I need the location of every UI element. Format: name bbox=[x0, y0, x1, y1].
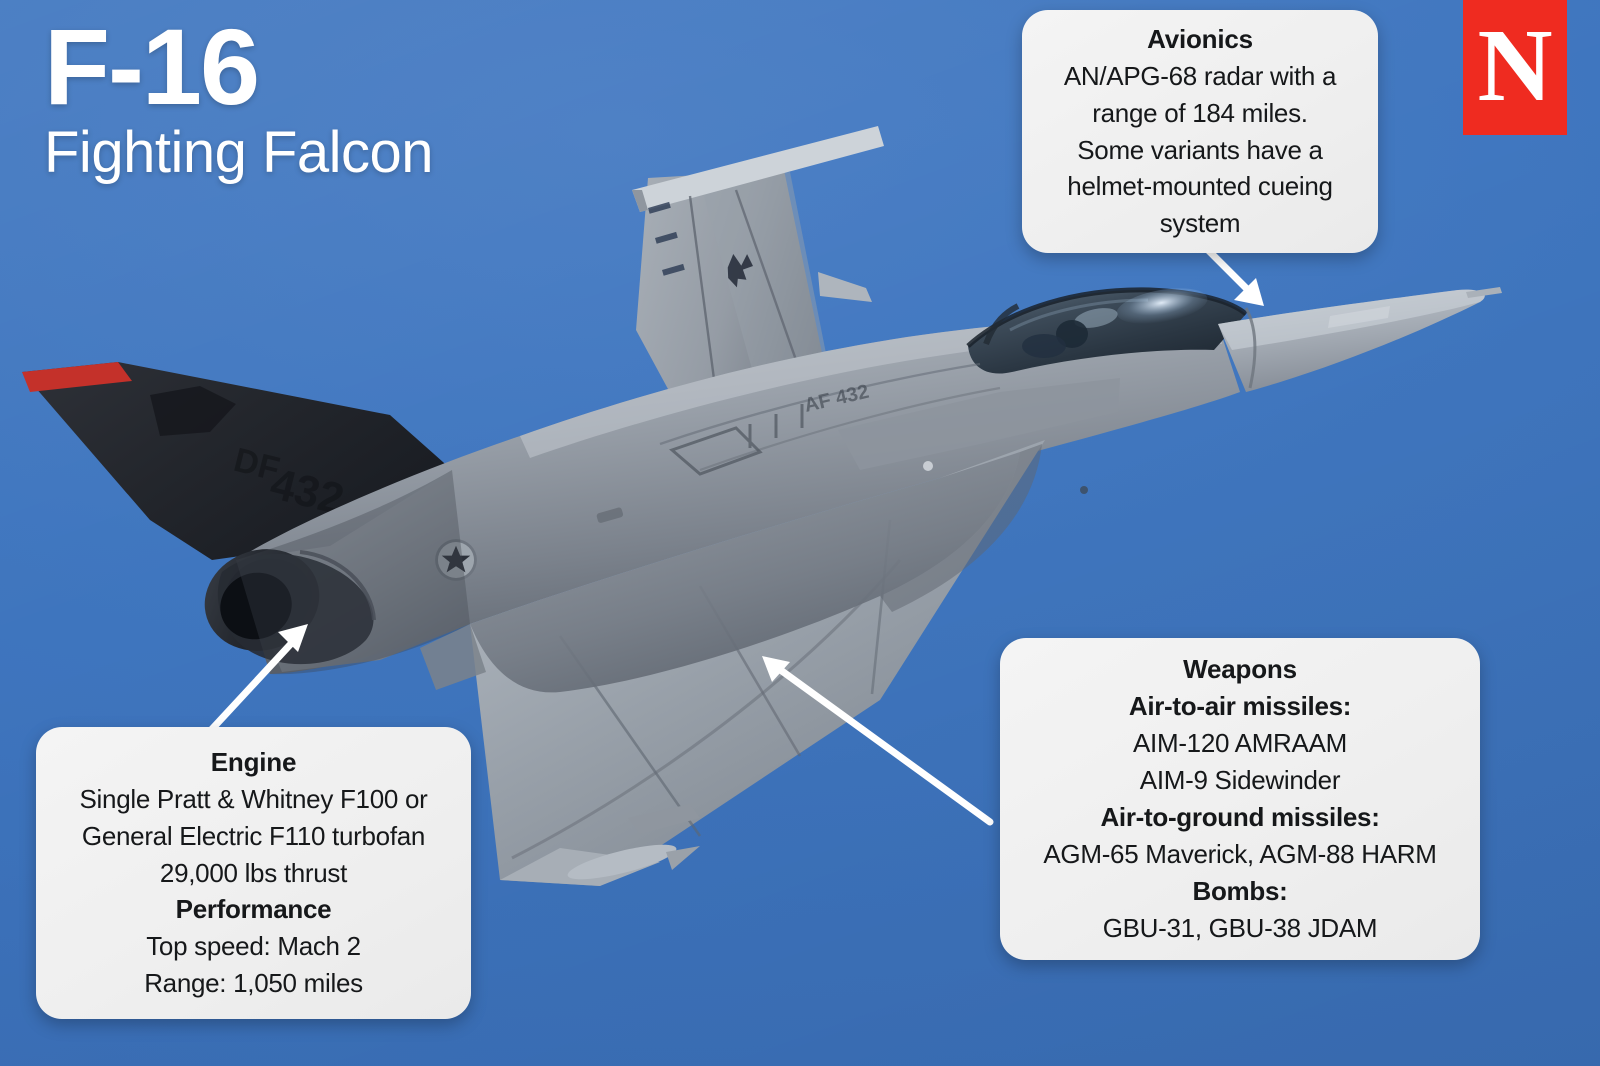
engine-line-6: Range: 1,050 miles bbox=[52, 965, 455, 1002]
callout-engine[interactable]: Engine Single Pratt & Whitney F100 or Ge… bbox=[36, 727, 471, 1019]
weapons-line-4: Air-to-ground missiles: bbox=[1016, 799, 1464, 836]
weapons-line-6: Bombs: bbox=[1016, 873, 1464, 910]
avionics-line-5: system bbox=[1038, 205, 1362, 242]
engine-line-3: 29,000 lbs thrust bbox=[52, 855, 455, 892]
engine-line-1: Single Pratt & Whitney F100 or bbox=[52, 781, 455, 818]
infographic-canvas: DF 432 bbox=[0, 0, 1600, 1066]
engine-line-2: General Electric F110 turbofan bbox=[52, 818, 455, 855]
callout-avionics[interactable]: Avionics AN/APG-68 radar with a range of… bbox=[1022, 10, 1378, 253]
logo-letter-n: N bbox=[1477, 14, 1552, 118]
engine-title: Engine bbox=[52, 744, 455, 781]
weapons-line-2: AIM-120 AMRAAM bbox=[1016, 725, 1464, 762]
weapons-line-3: AIM-9 Sidewinder bbox=[1016, 762, 1464, 799]
page-title: F-16 Fighting Falcon bbox=[44, 14, 433, 182]
avionics-line-4: helmet-mounted cueing bbox=[1038, 168, 1362, 205]
engine-performance-title: Performance bbox=[52, 891, 455, 928]
engine-line-5: Top speed: Mach 2 bbox=[52, 928, 455, 965]
avionics-line-3: Some variants have a bbox=[1038, 132, 1362, 169]
weapons-line-5: AGM-65 Maverick, AGM-88 HARM bbox=[1016, 836, 1464, 873]
weapons-line-7: GBU-31, GBU-38 JDAM bbox=[1016, 910, 1464, 947]
weapons-title: Weapons bbox=[1016, 651, 1464, 688]
avionics-line-1: AN/APG-68 radar with a bbox=[1038, 58, 1362, 95]
avionics-line-2: range of 184 miles. bbox=[1038, 95, 1362, 132]
newsweek-logo[interactable]: N bbox=[1463, 0, 1567, 135]
title-subtitle: Fighting Falcon bbox=[44, 124, 433, 182]
title-main: F-16 bbox=[44, 14, 433, 120]
avionics-title: Avionics bbox=[1038, 21, 1362, 58]
callout-weapons[interactable]: Weapons Air-to-air missiles: AIM-120 AMR… bbox=[1000, 638, 1480, 960]
weapons-line-1: Air-to-air missiles: bbox=[1016, 688, 1464, 725]
